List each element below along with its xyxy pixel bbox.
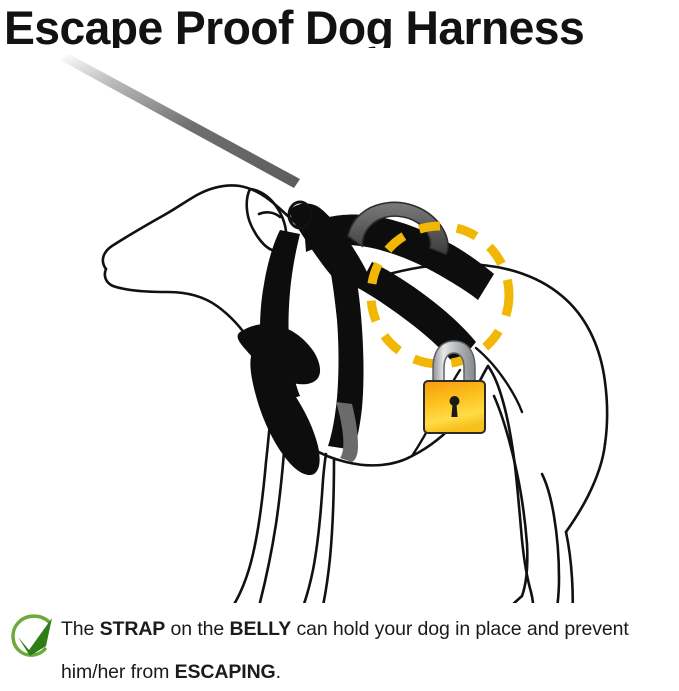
green-check-icon [8, 612, 56, 660]
caption-line-1: The STRAP on the BELLY can hold your dog… [61, 608, 673, 651]
dog-harness-svg [0, 48, 679, 603]
caption-escaping-strong: ESCAPING [175, 661, 276, 683]
caption-l2-part2: . [276, 661, 281, 683]
caption-block: The STRAP on the BELLY can hold your dog… [0, 603, 679, 691]
caption-l1-part1: The [61, 618, 100, 640]
check-icon-svg [8, 612, 56, 660]
caption-l1-part2: on the [165, 618, 229, 640]
caption-belly-strong: BELLY [229, 618, 291, 640]
caption-line-2: him/her from ESCAPING. [61, 651, 673, 691]
caption-text: The STRAP on the BELLY can hold your dog… [61, 608, 673, 691]
caption-l2-part1: him/her from [61, 661, 175, 683]
harness-illustration [0, 48, 679, 603]
product-infographic: Escape Proof Dog Harness [0, 0, 679, 691]
caption-l1-part3: can hold your dog in place and prevent [291, 618, 629, 640]
page-title: Escape Proof Dog Harness [4, 2, 665, 54]
caption-strap-strong: STRAP [100, 618, 166, 640]
check-mark-shape [18, 618, 52, 656]
